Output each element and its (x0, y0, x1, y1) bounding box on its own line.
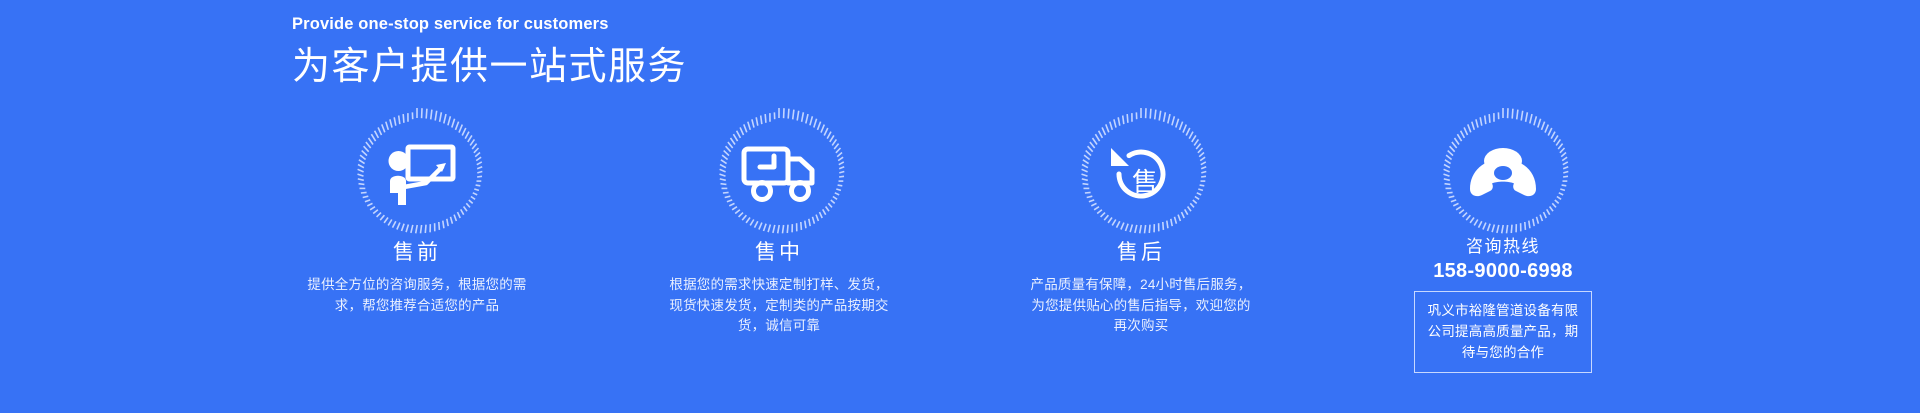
icon-wrapper (712, 116, 846, 226)
heading-block: Provide one-stop service for customers 为… (292, 14, 992, 92)
service-column-aftersale[interactable]: 售 售后 产品质量有保障，24小时售后服务，为您提供贴心的售后指导，欢迎您的再次… (960, 116, 1322, 337)
service-column-insale[interactable]: 售中 根据您的需求快速定制打样、发货，现货快速发货，定制类的产品按期交货，诚信可… (598, 116, 960, 337)
column-title: 售前 (393, 240, 441, 265)
heading-eyebrow: Provide one-stop service for customers (292, 14, 992, 35)
hotline-label: 咨询热线 (1466, 236, 1540, 257)
delivery-truck-icon (740, 140, 818, 208)
icon-wrapper: 售 (1074, 116, 1208, 226)
icon-wrapper (350, 116, 484, 226)
column-description: 根据您的需求快速定制打样、发货，现货快速发货，定制类的产品按期交货，诚信可靠 (664, 275, 894, 337)
column-title: 售中 (755, 240, 803, 265)
hotline-column[interactable]: 咨询热线 158-9000-6998 巩义市裕隆管道设备有限公司提高高质量产品，… (1322, 116, 1684, 373)
icon-wrapper (1436, 116, 1570, 226)
service-banner: Provide one-stop service for customers 为… (0, 0, 1920, 413)
hotline-number[interactable]: 158-9000-6998 (1433, 259, 1573, 284)
svg-text:售: 售 (1132, 167, 1158, 197)
service-columns: 售前 提供全方位的咨询服务，根据您的需求，帮您推荐合适您的产品 (236, 116, 1684, 373)
page-title: 为客户提供一站式服务 (292, 44, 992, 92)
presenter-whiteboard-icon (378, 140, 456, 208)
column-description: 产品质量有保障，24小时售后服务，为您提供贴心的售后指导，欢迎您的再次购买 (1026, 275, 1256, 337)
company-note-box: 巩义市裕隆管道设备有限公司提高高质量产品，期待与您的合作 (1414, 291, 1592, 373)
after-sales-refresh-icon: 售 (1102, 140, 1180, 208)
column-description: 提供全方位的咨询服务，根据您的需求，帮您推荐合适您的产品 (302, 275, 532, 316)
telephone-icon (1464, 140, 1542, 208)
column-title: 售后 (1117, 240, 1165, 265)
service-column-presale[interactable]: 售前 提供全方位的咨询服务，根据您的需求，帮您推荐合适您的产品 (236, 116, 598, 316)
